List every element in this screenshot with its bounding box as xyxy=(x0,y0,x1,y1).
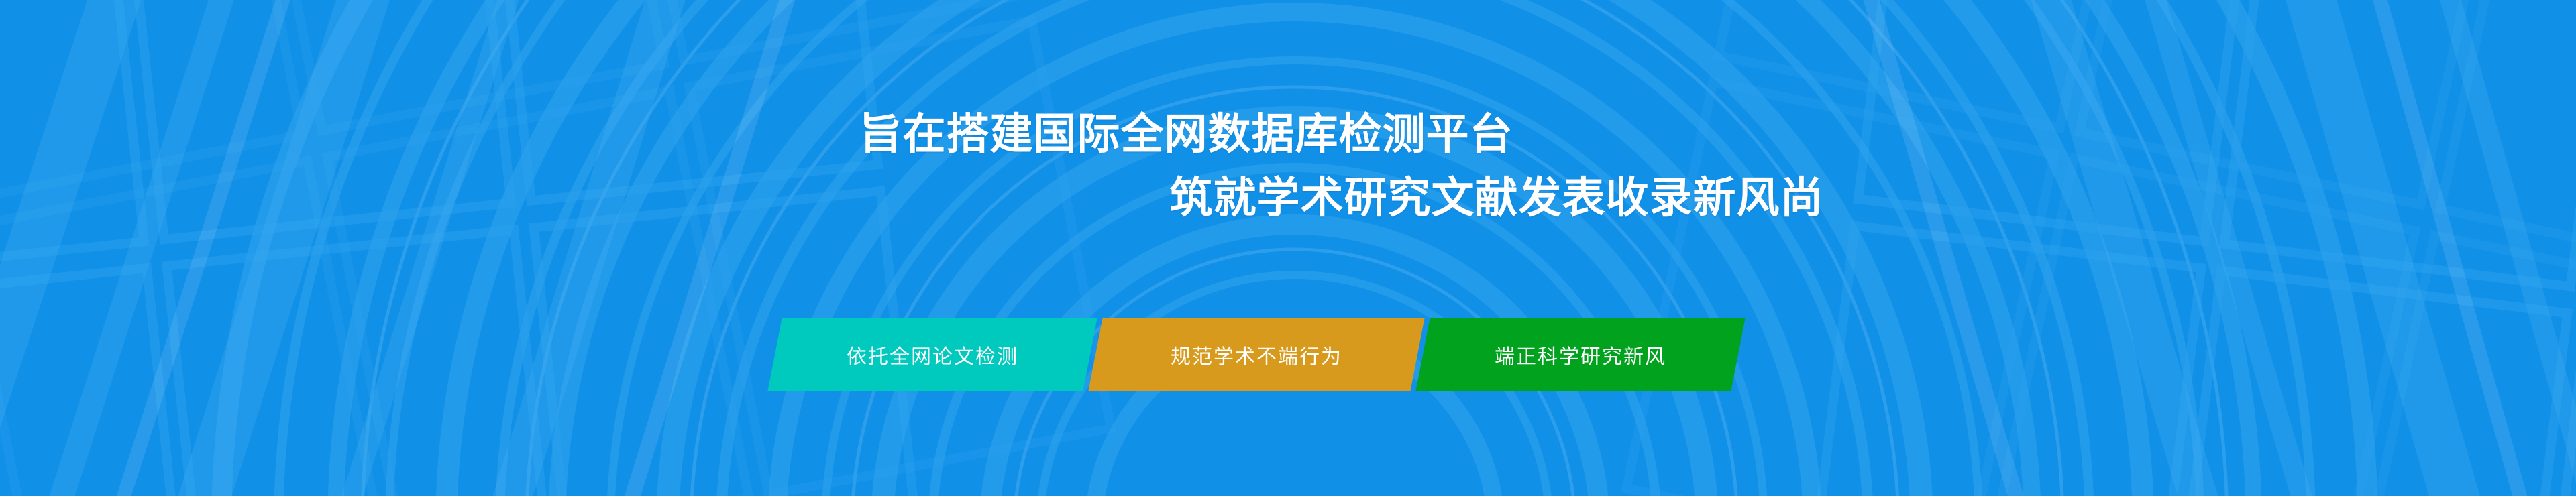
background-pattern-svg xyxy=(0,0,2576,496)
feature-tag-label: 依托全网论文检测 xyxy=(847,340,1018,369)
headline-block: 旨在搭建国际全网数据库检测平台 筑就学术研究文献发表收录新风尚 xyxy=(0,113,2576,221)
feature-tag-label: 规范学术不端行为 xyxy=(1171,340,1342,369)
headline-line-1: 旨在搭建国际全网数据库检测平台 xyxy=(0,113,2474,156)
feature-tag-label: 端正科学研究新风 xyxy=(1495,340,1666,369)
promo-banner: 旨在搭建国际全网数据库检测平台 筑就学术研究文献发表收录新风尚 依托全网论文检测… xyxy=(0,0,2576,496)
feature-tag-academic-misconduct[interactable]: 规范学术不端行为 xyxy=(1089,318,1425,391)
feature-tag-plagiarism-detection[interactable]: 依托全网论文检测 xyxy=(768,318,1097,391)
feature-tag-strip: 依托全网论文检测 规范学术不端行为 端正科学研究新风 xyxy=(775,318,1808,391)
feature-tag-research-ethics[interactable]: 端正科学研究新风 xyxy=(1416,318,1746,391)
headline-line-2: 筑就学术研究文献发表收录新风尚 xyxy=(209,176,2576,220)
background-decoration xyxy=(0,0,2576,496)
